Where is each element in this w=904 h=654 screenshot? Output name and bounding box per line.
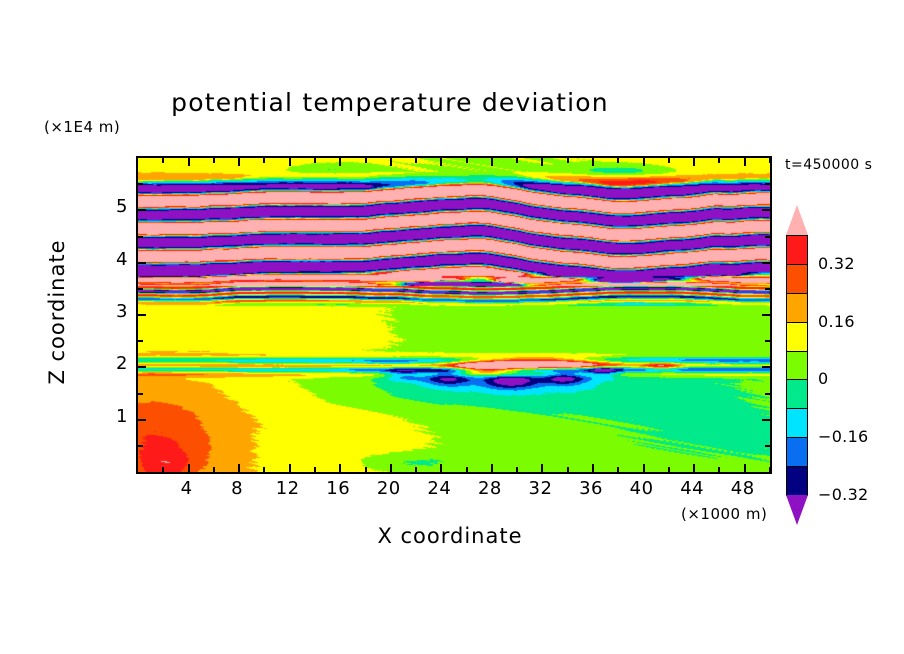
- x-tick-minor: [567, 467, 569, 472]
- x-tick: [339, 158, 341, 166]
- colorbar-tick-label: −0.32: [818, 485, 869, 504]
- colorbar-band: [786, 293, 808, 323]
- x-tick-minor: [769, 158, 771, 163]
- x-tick: [289, 464, 291, 472]
- x-tick-minor: [213, 158, 215, 163]
- x-tick: [744, 158, 746, 166]
- x-tick-minor: [415, 158, 417, 163]
- y-tick-label: 2: [88, 353, 128, 374]
- x-tick: [188, 158, 190, 166]
- colorbar-band: [786, 264, 808, 294]
- x-tick-label: 12: [268, 478, 308, 499]
- x-tick-minor: [516, 467, 518, 472]
- x-tick-minor: [365, 467, 367, 472]
- x-tick-label: 32: [520, 478, 560, 499]
- y-tick-minor: [138, 445, 143, 447]
- y-axis-unit-label: (×1E4 m): [44, 118, 120, 136]
- y-tick-minor: [138, 288, 143, 290]
- y-tick: [762, 366, 770, 368]
- y-tick-minor: [765, 183, 770, 185]
- x-tick-minor: [314, 158, 316, 163]
- x-tick: [541, 158, 543, 166]
- x-tick-minor: [365, 158, 367, 163]
- x-tick: [238, 158, 240, 166]
- y-tick-label: 5: [88, 196, 128, 217]
- y-tick: [138, 366, 146, 368]
- colorbar-cap-bottom: [786, 495, 808, 525]
- colorbar-tick-label: −0.16: [818, 427, 869, 446]
- y-tick-minor: [765, 288, 770, 290]
- x-tick-minor: [567, 158, 569, 163]
- colorbar-band: [786, 322, 808, 352]
- y-tick-minor: [765, 445, 770, 447]
- x-tick: [289, 158, 291, 166]
- colorbar: [786, 205, 808, 525]
- x-axis-title: X coordinate: [330, 524, 570, 548]
- x-tick: [693, 158, 695, 166]
- x-tick-label: 4: [167, 478, 207, 499]
- x-tick-minor: [769, 467, 771, 472]
- colorbar-tick-label: 0: [818, 369, 828, 388]
- page-title: potential temperature deviation: [0, 88, 780, 117]
- x-tick: [188, 464, 190, 472]
- x-tick: [693, 464, 695, 472]
- x-tick: [592, 464, 594, 472]
- x-tick-label: 20: [369, 478, 409, 499]
- colorbar-band: [786, 437, 808, 467]
- x-tick-label: 36: [571, 478, 611, 499]
- colorbar-band: [786, 379, 808, 409]
- x-tick: [440, 158, 442, 166]
- x-tick-label: 40: [622, 478, 662, 499]
- x-tick: [390, 464, 392, 472]
- colorbar-tick-label: 0.32: [818, 254, 855, 273]
- y-tick-label: 1: [88, 406, 128, 427]
- x-tick-minor: [263, 467, 265, 472]
- x-tick: [491, 158, 493, 166]
- x-tick-minor: [516, 158, 518, 163]
- x-tick-minor: [617, 467, 619, 472]
- contour-field-canvas: [138, 158, 770, 472]
- x-tick-minor: [263, 158, 265, 163]
- y-tick: [138, 419, 146, 421]
- colorbar-band: [786, 466, 808, 496]
- y-tick-label: 3: [88, 301, 128, 322]
- x-tick-label: 8: [217, 478, 257, 499]
- x-tick-minor: [617, 158, 619, 163]
- x-tick-minor: [213, 467, 215, 472]
- x-tick: [491, 464, 493, 472]
- x-tick: [541, 464, 543, 472]
- x-tick-minor: [466, 467, 468, 472]
- x-tick-minor: [718, 158, 720, 163]
- x-tick-minor: [668, 467, 670, 472]
- y-tick-minor: [765, 393, 770, 395]
- colorbar-cap-top: [786, 205, 808, 235]
- y-tick-minor: [765, 236, 770, 238]
- timestamp-annotation: t=450000 s: [785, 157, 872, 173]
- y-tick: [138, 314, 146, 316]
- x-tick: [339, 464, 341, 472]
- x-tick-minor: [668, 158, 670, 163]
- y-tick-minor: [138, 393, 143, 395]
- x-tick-minor: [718, 467, 720, 472]
- x-tick: [744, 464, 746, 472]
- x-tick-label: 48: [723, 478, 763, 499]
- x-tick: [440, 464, 442, 472]
- y-tick: [762, 419, 770, 421]
- x-tick-label: 44: [672, 478, 712, 499]
- x-tick-minor: [314, 467, 316, 472]
- y-tick-minor: [138, 340, 143, 342]
- y-tick: [762, 314, 770, 316]
- x-tick: [238, 464, 240, 472]
- x-tick-minor: [466, 158, 468, 163]
- y-tick: [762, 262, 770, 264]
- colorbar-tick-label: 0.16: [818, 312, 855, 331]
- x-tick-minor: [415, 467, 417, 472]
- colorbar-band: [786, 351, 808, 381]
- y-tick-minor: [765, 340, 770, 342]
- x-axis-unit-label: (×1000 m): [681, 505, 767, 523]
- x-tick-minor: [162, 467, 164, 472]
- x-tick: [643, 158, 645, 166]
- y-tick: [138, 262, 146, 264]
- x-tick: [390, 158, 392, 166]
- y-axis-title: Z coordinate: [45, 222, 69, 402]
- colorbar-band: [786, 408, 808, 438]
- y-tick-minor: [138, 183, 143, 185]
- x-tick-minor: [162, 158, 164, 163]
- contour-plot-area: [136, 156, 772, 474]
- y-tick: [762, 209, 770, 211]
- x-tick-label: 28: [470, 478, 510, 499]
- y-tick-minor: [138, 236, 143, 238]
- x-tick-label: 24: [419, 478, 459, 499]
- x-tick: [643, 464, 645, 472]
- y-tick: [138, 209, 146, 211]
- y-tick-label: 4: [88, 249, 128, 270]
- x-tick-label: 16: [318, 478, 358, 499]
- colorbar-band: [786, 235, 808, 265]
- x-tick: [592, 158, 594, 166]
